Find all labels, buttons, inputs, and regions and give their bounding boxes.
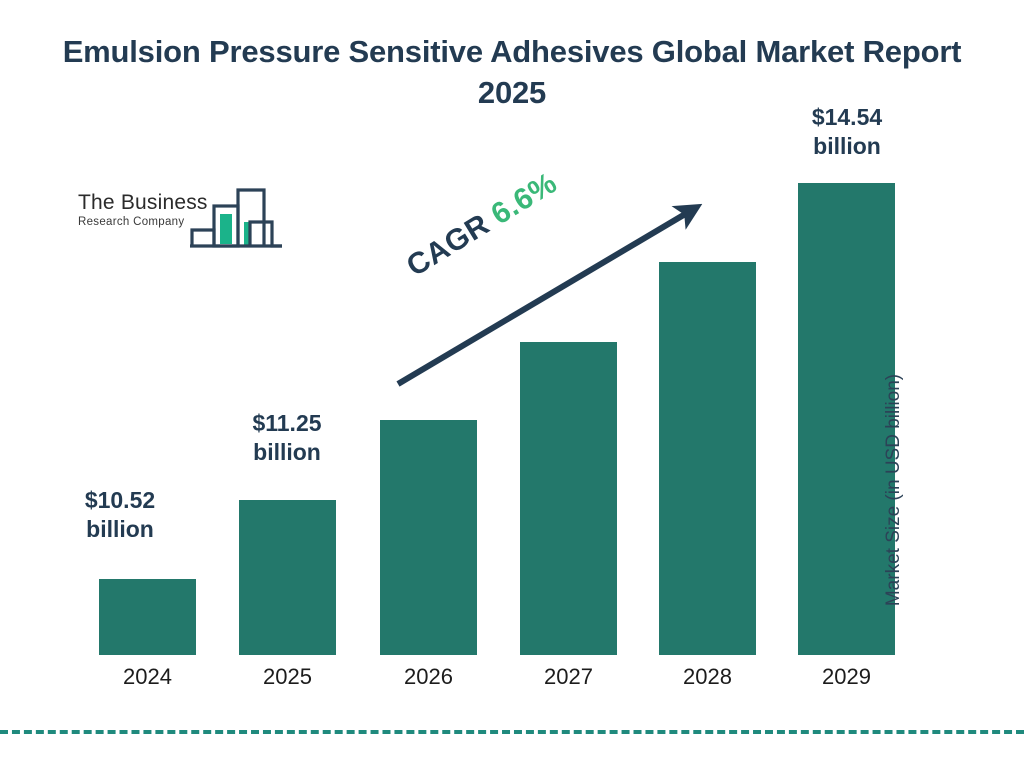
bar-value-2025: $11.25 billion (222, 409, 352, 468)
x-tick-2029: 2029 (798, 664, 895, 690)
bar-2026 (380, 420, 477, 655)
x-tick-2025: 2025 (239, 664, 336, 690)
bar-2029 (798, 183, 895, 655)
bar-2025 (239, 500, 336, 655)
bar-chart-plot-area: $10.52 billion $11.25 billion $14.54 bil… (0, 0, 1024, 768)
x-tick-2027: 2027 (520, 664, 617, 690)
bar-value-2025-line2: billion (222, 438, 352, 467)
bar-value-2024: $10.52 billion (55, 486, 185, 545)
x-tick-2026: 2026 (380, 664, 477, 690)
bar-value-2029: $14.54 billion (767, 103, 927, 162)
bar-value-2024-line2: billion (55, 515, 185, 544)
x-tick-2028: 2028 (659, 664, 756, 690)
chart-infographic: Emulsion Pressure Sensitive Adhesives Gl… (0, 0, 1024, 768)
bar-2028 (659, 262, 756, 655)
bar-2024 (99, 579, 196, 655)
bar-value-2029-line2: billion (767, 132, 927, 161)
y-axis-title: Market Size (in USD billion) (883, 330, 905, 650)
bar-value-2025-line1: $11.25 (222, 409, 352, 438)
bar-value-2029-line1: $14.54 (767, 103, 927, 132)
cagr-annotation: CAGR 6.6% (401, 166, 563, 284)
footer-divider (0, 730, 1024, 734)
bar-2027 (520, 342, 617, 655)
cagr-value: 6.6% (486, 166, 563, 231)
bar-value-2024-line1: $10.52 (55, 486, 185, 515)
cagr-label: CAGR (401, 208, 495, 283)
x-tick-2024: 2024 (99, 664, 196, 690)
